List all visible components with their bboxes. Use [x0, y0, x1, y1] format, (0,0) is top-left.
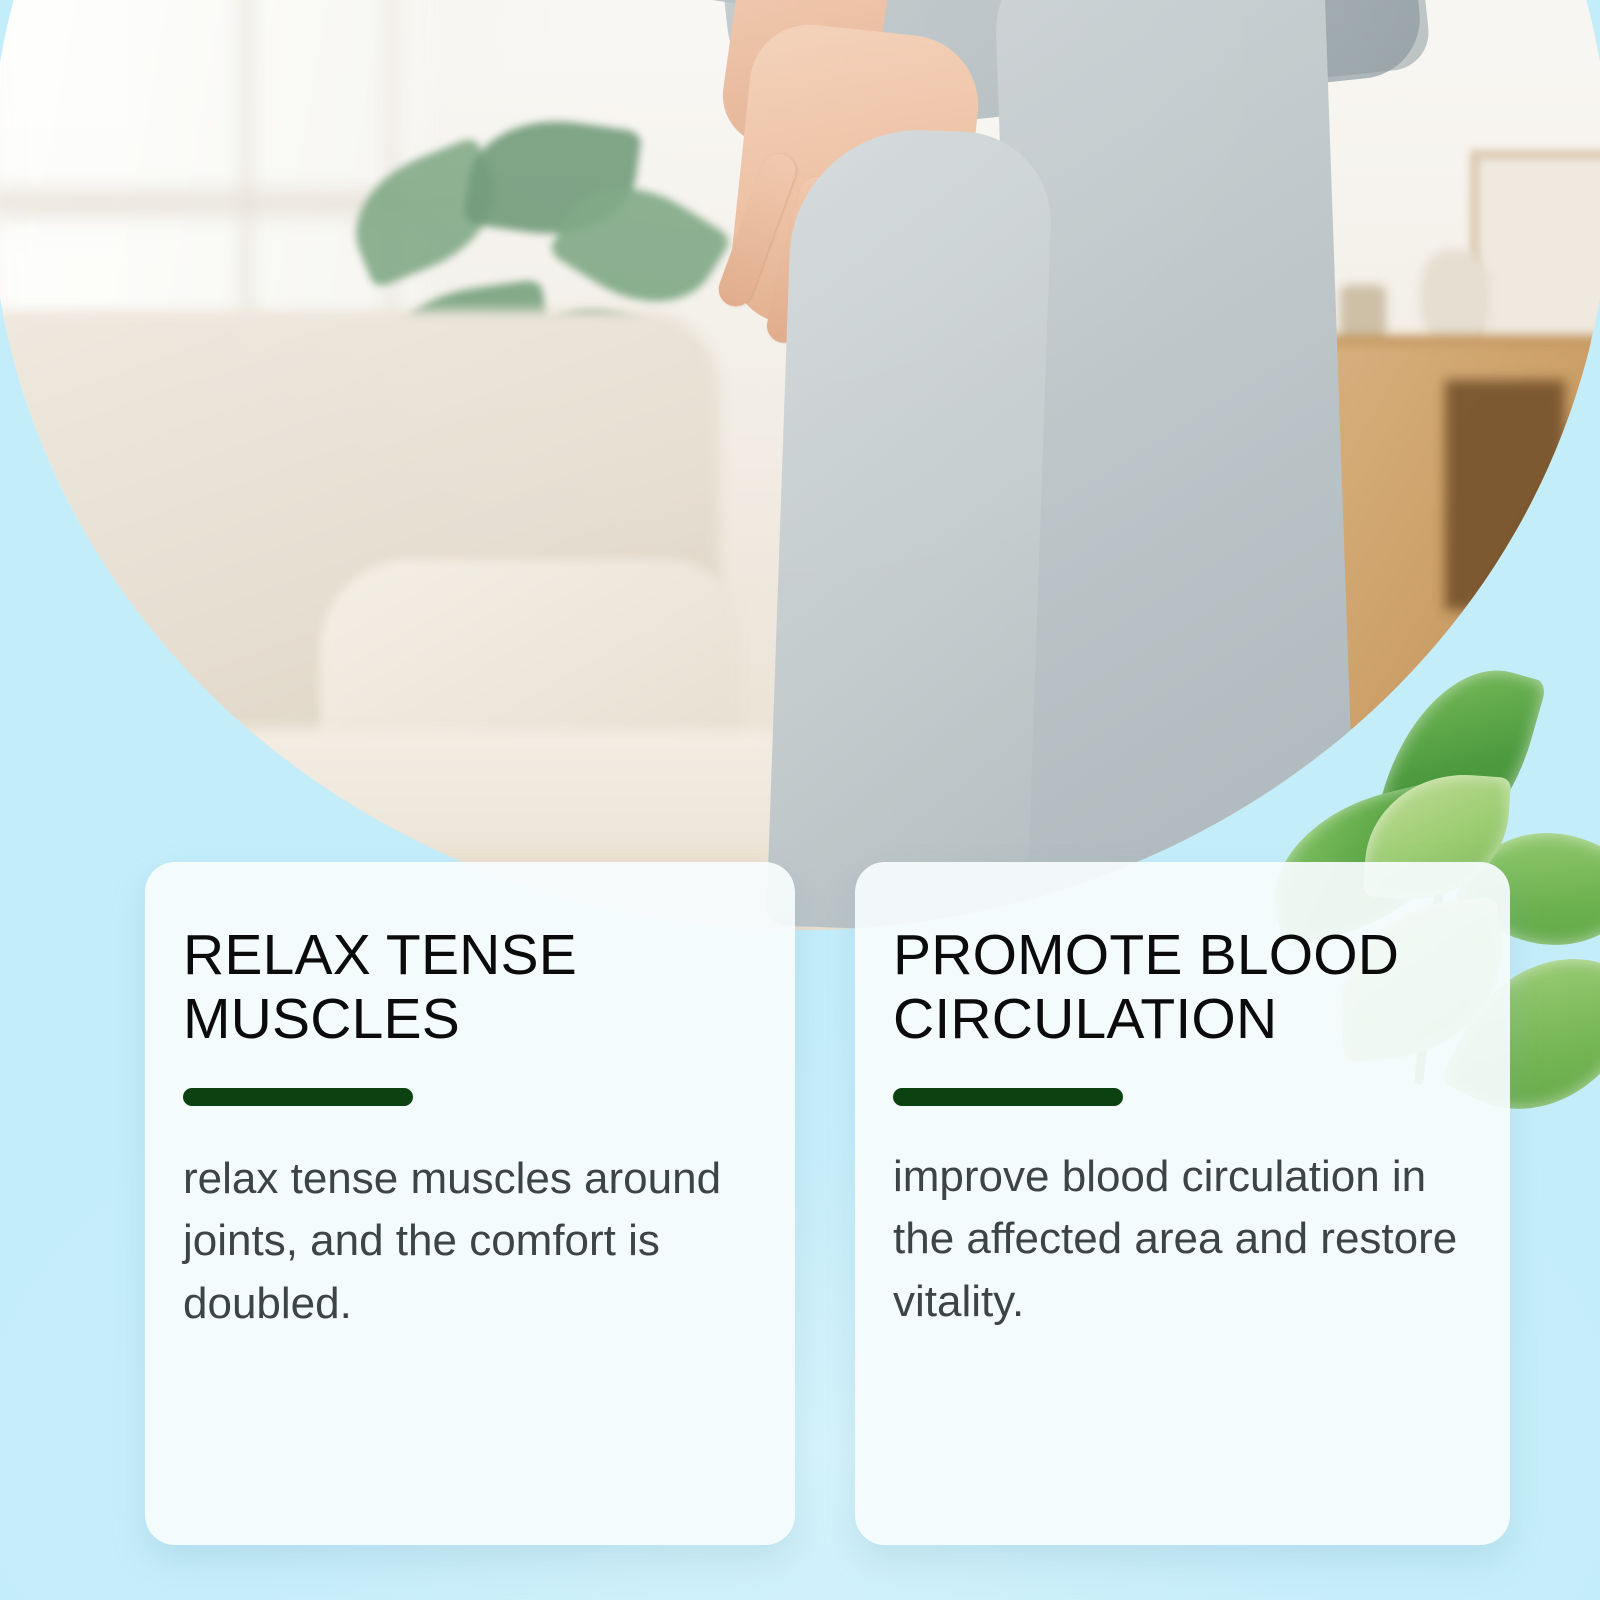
card-body: relax tense muscles around joints, and t…	[183, 1148, 751, 1335]
poster-canvas: RELAX TENSE MUSCLES relax tense muscles …	[0, 0, 1600, 1600]
card-title: PROMOTE BLOOD CIRCULATION	[893, 924, 1466, 1052]
accent-bar	[893, 1088, 1123, 1106]
benefit-card-relax-tense-muscles[interactable]: RELAX TENSE MUSCLES relax tense muscles …	[145, 862, 795, 1545]
card-body: improve blood circulation in the affecte…	[893, 1146, 1466, 1333]
benefit-card-promote-blood-circulation[interactable]: PROMOTE BLOOD CIRCULATION improve blood …	[855, 862, 1510, 1545]
accent-bar	[183, 1088, 413, 1106]
card-title: RELAX TENSE MUSCLES	[183, 924, 751, 1052]
